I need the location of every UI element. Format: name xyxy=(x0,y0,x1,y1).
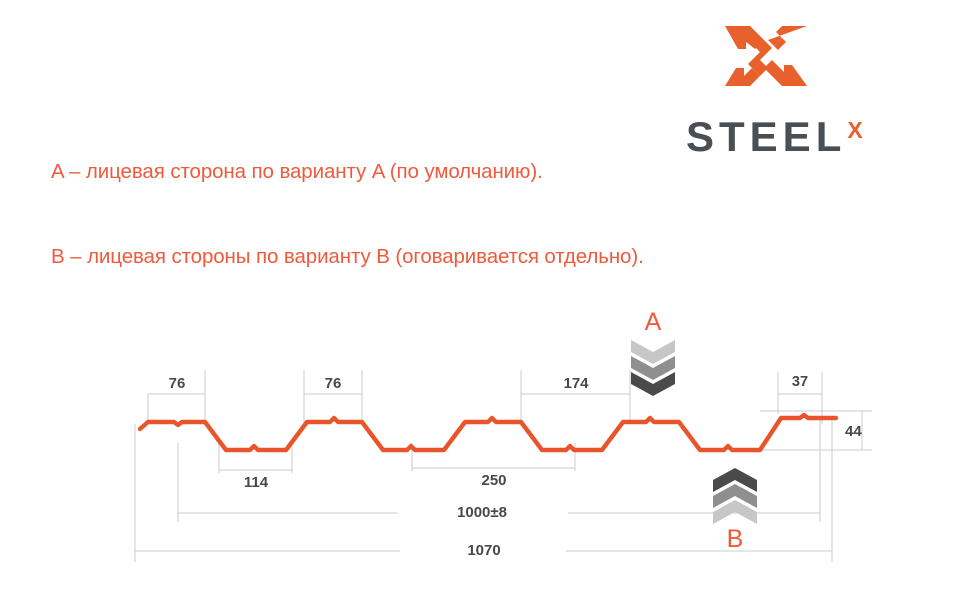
dimension-label-174: 174 xyxy=(521,375,631,392)
dimension-label-1000: 1000±8 xyxy=(402,504,562,521)
chevron-down-icon xyxy=(631,340,675,396)
chevron-up-icon xyxy=(713,468,757,524)
trapezoidal-sheet-profile xyxy=(140,415,836,450)
dimension-label-76-left: 76 xyxy=(148,375,206,392)
dimension-label-1070: 1070 xyxy=(404,542,564,559)
dimension-label-76-second: 76 xyxy=(304,375,362,392)
dimension-label-37: 37 xyxy=(778,374,822,390)
dimension-label-44: 44 xyxy=(845,423,875,440)
dimension-label-250: 250 xyxy=(412,472,576,489)
dimension-lines xyxy=(135,370,872,562)
side-marker-letter-b: B xyxy=(717,525,753,554)
side-marker-letter-a: A xyxy=(635,308,671,337)
dimension-label-114: 114 xyxy=(219,474,293,491)
